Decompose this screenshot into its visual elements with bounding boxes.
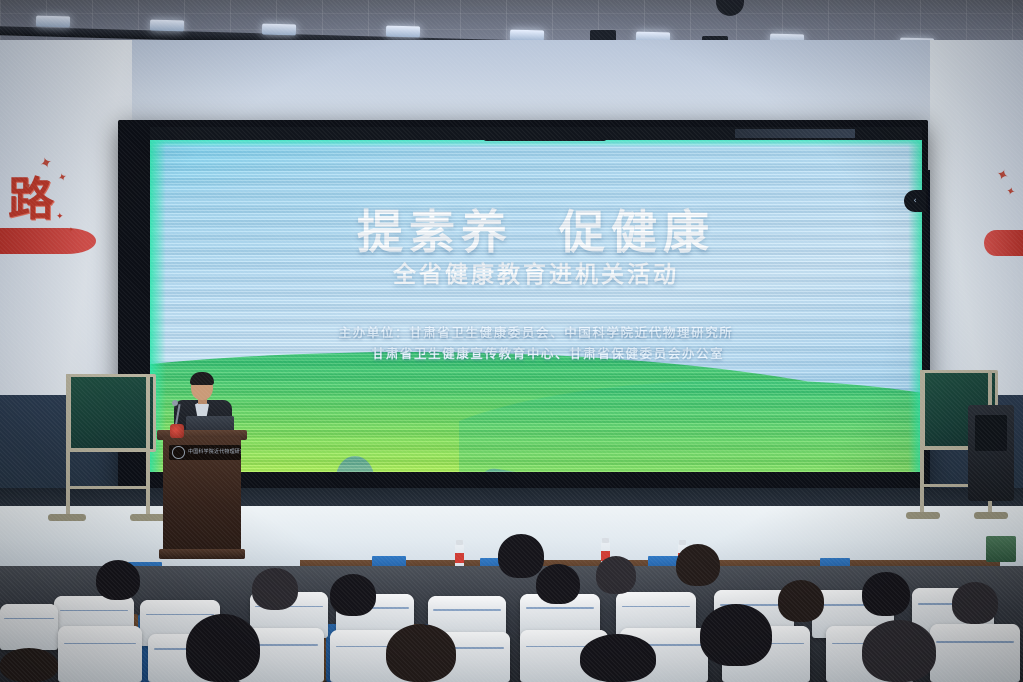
screen-top-strip-highlight [735, 129, 855, 138]
podium-nameplate: 中国科学院近代物理研究所 [169, 445, 241, 460]
wall-art-swoosh-left [0, 228, 96, 254]
ceiling-spotlight [150, 20, 184, 32]
presenter-hair [190, 372, 214, 385]
screen-title-part2: 促健康 [559, 205, 715, 259]
screen-edge-glow-top [150, 140, 922, 147]
star-icon: ✦ [56, 212, 64, 222]
screen-organizers-line2: 甘肃省卫生健康宣传教育中心、甘肃省保健委员会办公室 [150, 343, 922, 364]
blackboard-foot [906, 512, 940, 519]
blackboard-panel-left [68, 374, 156, 452]
audience-head [580, 634, 656, 682]
audience-seat [58, 626, 142, 682]
audience-head [778, 580, 824, 622]
blackboard-leg [66, 374, 70, 518]
audience-head [596, 556, 636, 594]
audience-head [700, 604, 772, 666]
audience-seat [0, 604, 58, 650]
screen-share-overlay-bar[interactable]: ▮▮▮ 禁止在共享屏幕 停止共享 [484, 140, 606, 141]
loudspeaker-cabinet [968, 405, 1014, 501]
blackboard-leg [146, 374, 150, 518]
audience-head [952, 582, 998, 624]
screen-subtitle: 全省健康教育进机关活动 [150, 255, 922, 289]
floor-equipment-box [986, 536, 1016, 562]
audience-head [536, 564, 580, 604]
atom-logo-icon [172, 446, 185, 459]
audience-seat [930, 624, 1020, 682]
podium-flowers [170, 424, 184, 438]
ceiling-spotlight [36, 16, 70, 28]
conference-hall-photo: 路 ✦ ✦ ✦ ✦ ✦ ✦ ✦ [0, 0, 1023, 682]
audience-head [676, 544, 720, 586]
screen-main-title: 提素养促健康 [150, 196, 922, 262]
audience-head [862, 620, 936, 682]
blackboard-foot [48, 514, 86, 521]
led-screen: 提素养促健康 全省健康教育进机关活动 主办单位：甘肃省卫生健康委员会、中国科学院… [150, 140, 922, 472]
blackboard-rail [68, 448, 148, 451]
audience-head [862, 572, 910, 616]
blackboard-foot [974, 512, 1008, 519]
audience-head [498, 534, 544, 578]
audience-head [186, 614, 260, 682]
ceiling-spotlight [386, 26, 420, 38]
blackboard-leg [920, 370, 924, 516]
audience-head [386, 624, 456, 682]
chevron-left-icon[interactable]: ‹ [904, 190, 926, 212]
screen-organizers: 主办单位：甘肃省卫生健康委员会、中国科学院近代物理研究所 甘肃省卫生健康宣传教育… [150, 322, 922, 364]
podium-base [159, 549, 245, 559]
audience-head [252, 568, 298, 610]
star-icon: ✦ [68, 226, 74, 234]
audience-head [330, 574, 376, 616]
gooseneck-microphone-icon [172, 400, 178, 406]
screen-organizers-line1: 主办单位：甘肃省卫生健康委员会、中国科学院近代物理研究所 [339, 325, 734, 340]
blackboard-rail [68, 486, 148, 489]
screen-title-part1: 提素养 [357, 205, 513, 259]
audience-head [96, 560, 140, 600]
audience-head [0, 648, 58, 682]
podium-plate-title: 中国科学院近代物理研究所 [188, 450, 241, 455]
ceiling-spotlight [262, 24, 296, 36]
wall-art-swoosh-right [984, 230, 1023, 256]
